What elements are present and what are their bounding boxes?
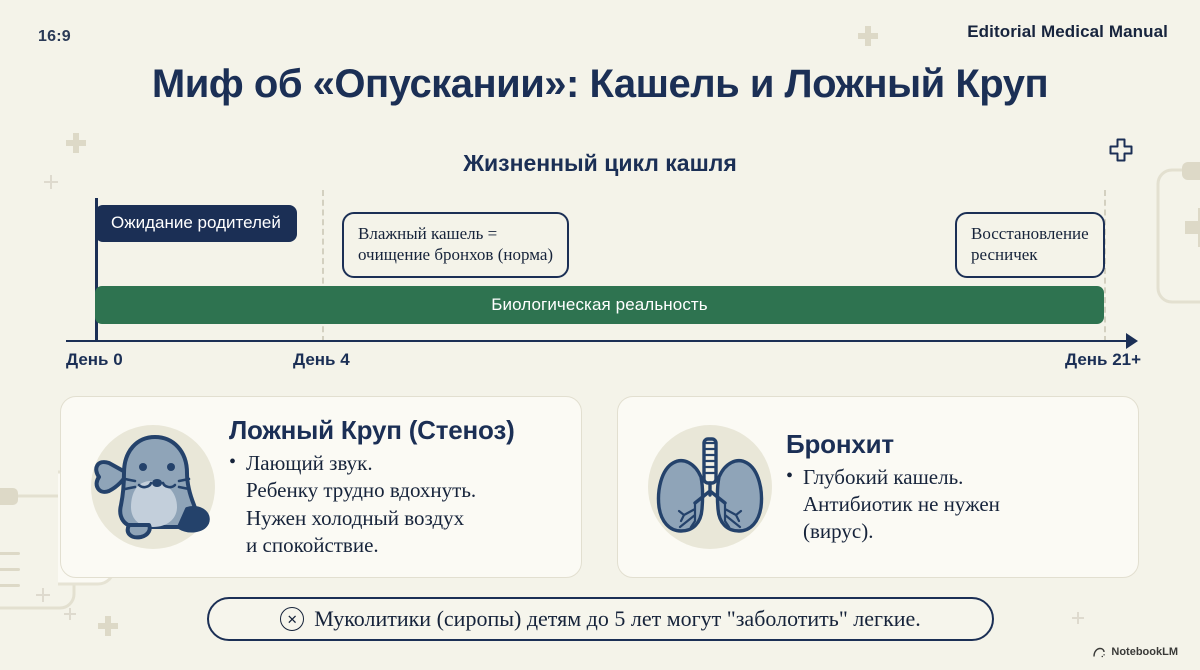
decorative-cross-icon	[1072, 612, 1084, 624]
card-bronchitis: Бронхит • Глубокий кашель. Антибиотик не…	[617, 396, 1139, 578]
notebooklm-watermark: NotebookLM	[1093, 646, 1178, 658]
tick-label-day-0: День 0	[66, 350, 123, 370]
page-title: Миф об «Опускании»: Кашель и Ложный Круп	[0, 62, 1200, 107]
bullet-marker-icon: •	[229, 450, 236, 475]
card-title: Ложный Круп (Стеноз)	[229, 415, 559, 446]
cough-lifecycle-timeline: Ожидание родителей Влажный кашель = очищ…	[0, 190, 1200, 380]
biological-reality-label: Биологическая реальность	[95, 286, 1104, 324]
tick-label-day-4: День 4	[293, 350, 350, 370]
card-title: Бронхит	[786, 429, 1116, 460]
section-subtitle: Жизненный цикл кашля	[0, 150, 1200, 177]
card-body: Бронхит • Глубокий кашель. Антибиотик не…	[780, 429, 1116, 546]
decorative-cross-icon	[98, 616, 118, 636]
condition-cards: Ложный Круп (Стеноз) • Лающий звук. Ребе…	[0, 396, 1200, 582]
slide-root: 16:9 Editorial Medical Manual Миф об «Оп…	[0, 0, 1200, 670]
card-body: Ложный Круп (Стеноз) • Лающий звук. Ребе…	[223, 415, 559, 559]
card-art	[83, 417, 223, 557]
bullet-text: Лающий звук. Ребенку трудно вдохнуть. Ну…	[246, 450, 476, 559]
decorative-cross-icon	[858, 26, 878, 46]
seal-icon	[91, 429, 215, 545]
timeline-axis	[66, 340, 1132, 342]
axis-arrow-icon	[1126, 333, 1138, 349]
bubble-wet-cough: Влажный кашель = очищение бронхов (норма…	[342, 212, 569, 278]
bubble-cilia-recovery: Восстановление ресничек	[955, 212, 1105, 278]
card-false-croup: Ложный Круп (Стеноз) • Лающий звук. Ребе…	[60, 396, 582, 578]
brand-label: Editorial Medical Manual	[967, 22, 1168, 42]
lungs-icon	[651, 429, 769, 545]
card-bullet: • Лающий звук. Ребенку трудно вдохнуть. …	[229, 450, 559, 559]
tick-label-day-21: День 21+	[1065, 350, 1141, 370]
aspect-ratio-label: 16:9	[38, 28, 71, 46]
notebooklm-logo-icon	[1093, 647, 1106, 658]
expectation-badge: Ожидание родителей	[95, 205, 297, 242]
watermark-label: NotebookLM	[1111, 646, 1178, 658]
warning-text: Муколитики (сиропы) детям до 5 лет могут…	[314, 606, 921, 632]
decorative-cross-icon	[44, 175, 58, 189]
card-art	[640, 417, 780, 557]
warning-banner: ✕ Муколитики (сиропы) детям до 5 лет мог…	[207, 597, 994, 641]
biological-reality-bar: Биологическая реальность	[95, 286, 1104, 324]
circle-x-icon: ✕	[280, 607, 304, 631]
bullet-text: Глубокий кашель. Антибиотик не нужен (ви…	[803, 464, 1000, 546]
bullet-marker-icon: •	[786, 464, 793, 489]
card-bullet: • Глубокий кашель. Антибиотик не нужен (…	[786, 464, 1116, 546]
